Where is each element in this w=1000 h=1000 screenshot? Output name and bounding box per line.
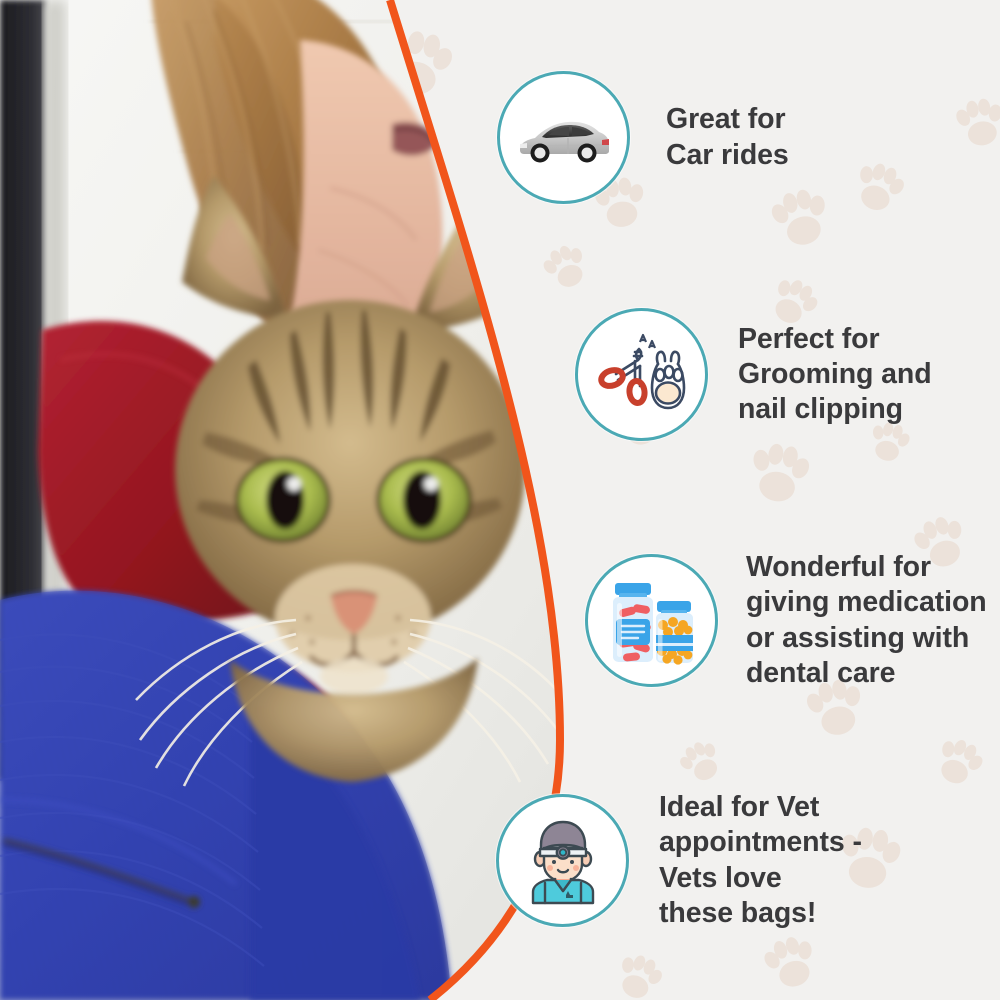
feature-icon-badge <box>575 308 708 441</box>
feature-icon-badge <box>585 554 718 687</box>
feature-item-car-rides: Great for Car rides <box>497 71 789 204</box>
feature-item-vet: Ideal for Vet appointments - Vets love t… <box>496 790 862 931</box>
feature-label: Ideal for Vet appointments - Vets love t… <box>659 790 862 931</box>
medicine-bottles-icon <box>603 575 701 667</box>
nail-clipper-paw-icon <box>594 330 690 420</box>
feature-label: Perfect for Grooming and nail clipping <box>738 322 932 428</box>
feature-label: Wonderful for giving medication or assis… <box>746 550 987 691</box>
feature-icon-badge <box>496 794 629 927</box>
feature-item-grooming: Perfect for Grooming and nail clipping <box>575 308 932 441</box>
car-icon <box>516 110 612 166</box>
feature-item-medication: Wonderful for giving medication or assis… <box>585 550 987 691</box>
feature-label: Great for Car rides <box>666 102 789 173</box>
feature-infographic: Great for Car rides <box>0 0 1000 1000</box>
feature-icon-badge <box>497 71 630 204</box>
veterinarian-icon <box>517 815 609 907</box>
